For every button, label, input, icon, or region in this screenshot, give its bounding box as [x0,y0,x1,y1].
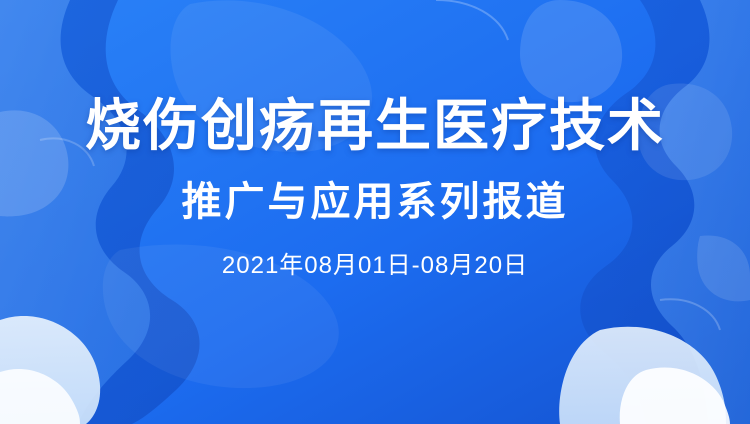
banner-text-stack: 烧伤创疡再生医疗技术 推广与应用系列报道 2021年08月01日-08月20日 [0,0,750,424]
banner-title-sub: 推广与应用系列报道 [182,182,569,222]
promo-banner: 烧伤创疡再生医疗技术 推广与应用系列报道 2021年08月01日-08月20日 [0,0,750,424]
banner-date-range: 2021年08月01日-08月20日 [222,254,528,278]
banner-title-main: 烧伤创疡再生医疗技术 [85,98,665,154]
